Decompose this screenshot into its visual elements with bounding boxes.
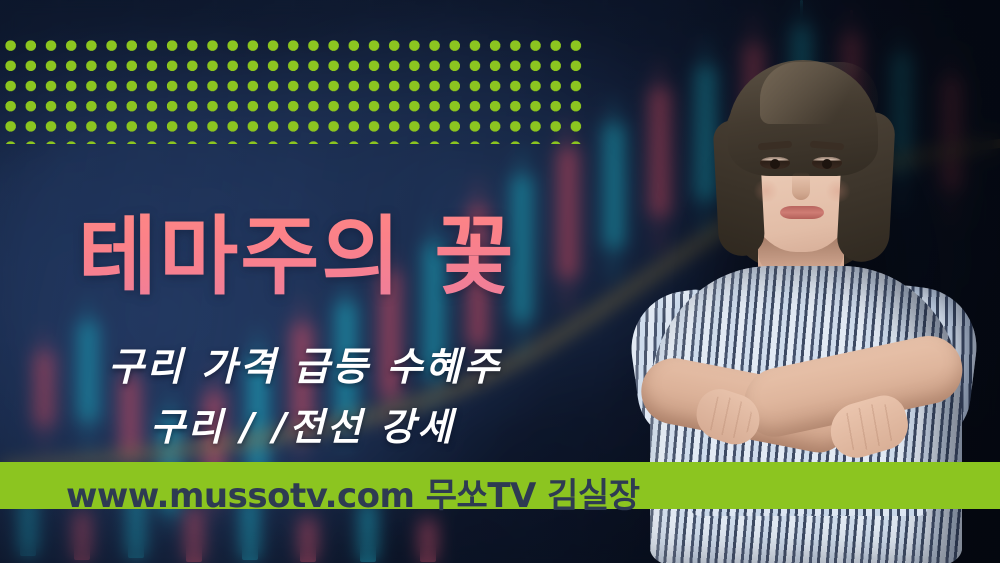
- pupil-right: [822, 159, 832, 169]
- cheek-right: [824, 180, 852, 202]
- nose: [792, 172, 810, 200]
- thumbnail-canvas: 테마주의 꽃 구리 가격 급등 수혜주 구리 / /전선 강세 www.muss…: [0, 0, 1000, 563]
- hair-sweep-highlight: [760, 62, 878, 124]
- lips: [780, 206, 824, 219]
- main-title: 테마주의 꽃: [78, 186, 516, 311]
- green-dot-grid: [5, 40, 583, 144]
- subtitle-line-2: 구리 / /전선 강세: [150, 396, 455, 451]
- subtitle-line-1: 구리 가격 급등 수혜주: [108, 336, 502, 392]
- channel-banner-text: www.mussotv.com 무쏘TV 김실장: [66, 468, 640, 517]
- cheek-left: [752, 180, 780, 202]
- pupil-left: [770, 159, 780, 169]
